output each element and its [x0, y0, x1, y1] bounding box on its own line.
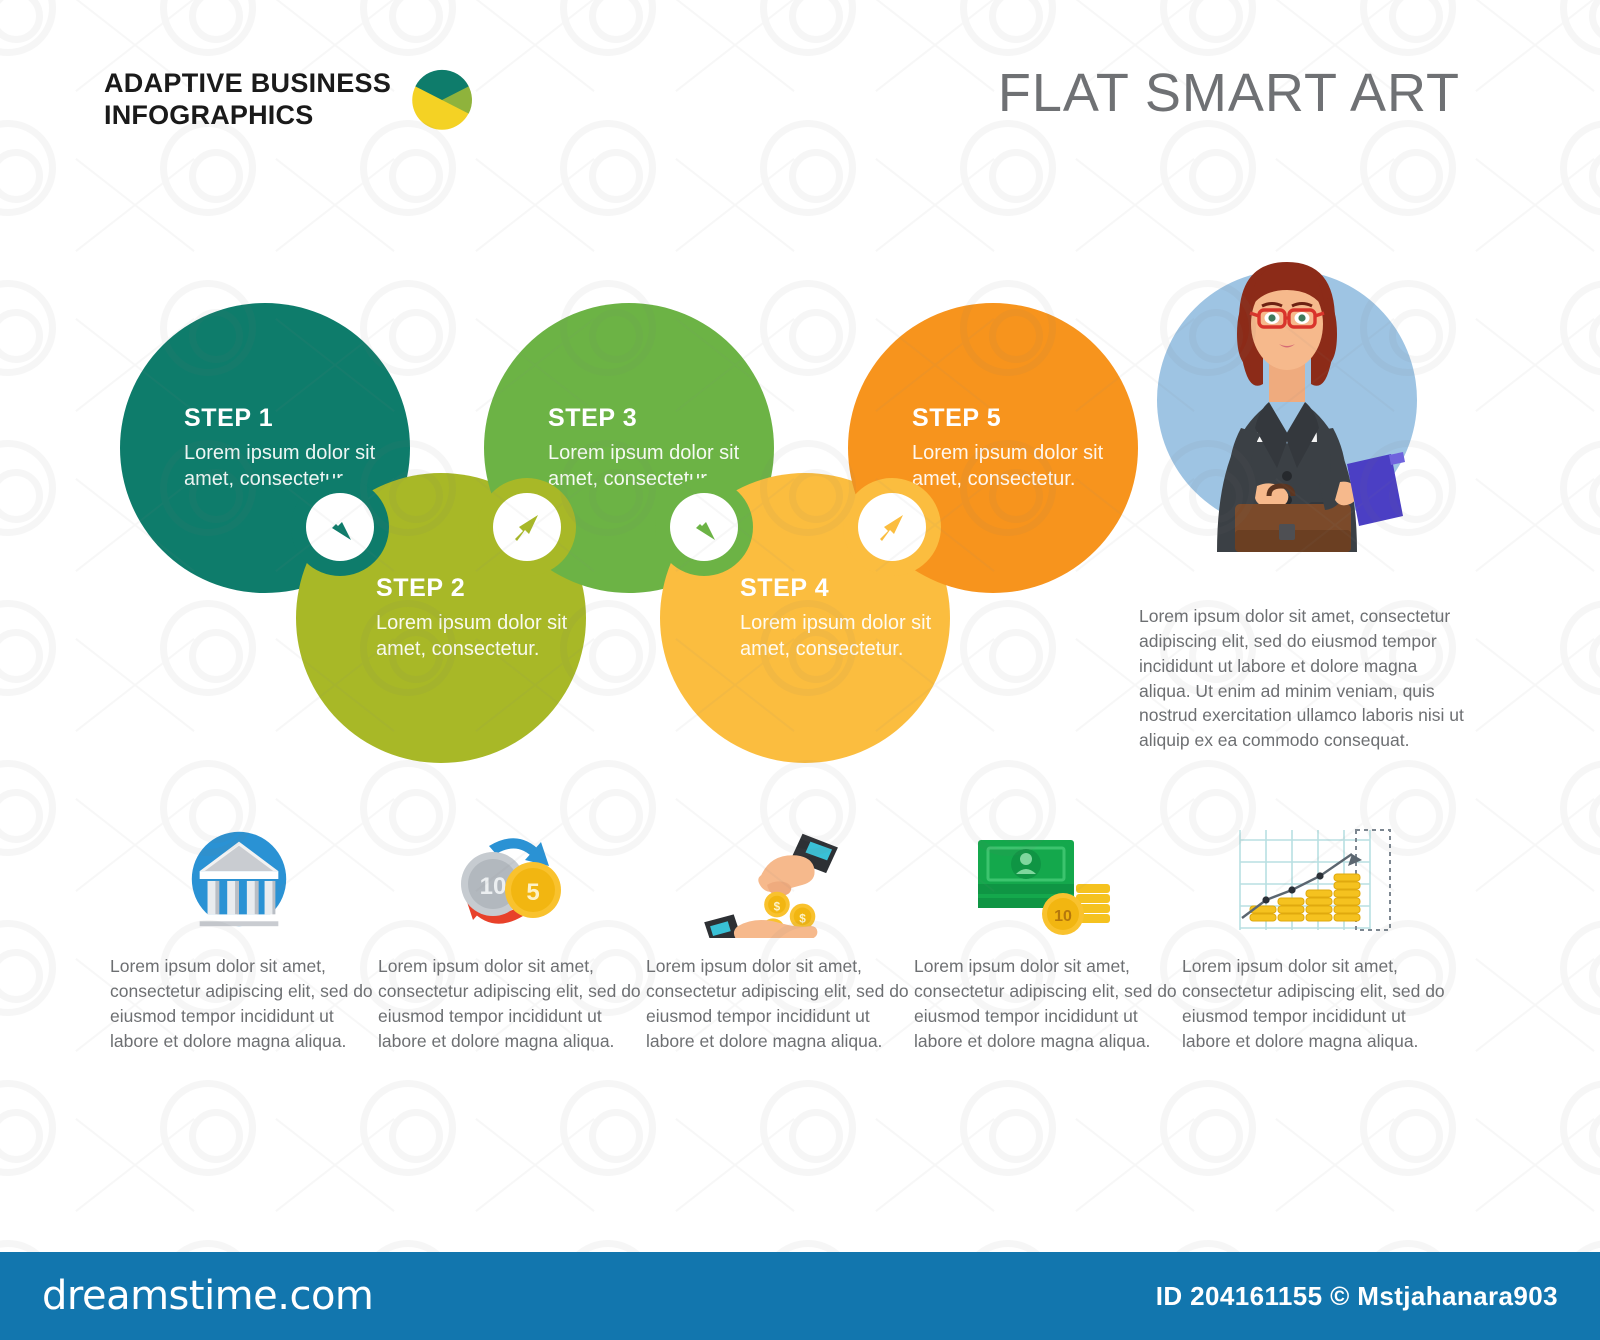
step-title-4: STEP 4 — [740, 574, 950, 603]
step-desc-3: Lorem ipsum dolor sit amet, consectetur. — [548, 441, 774, 492]
footer-bar: dreamstime.com ID 204161155 © Mstjahanar… — [0, 1252, 1600, 1340]
person-paragraph: Lorem ipsum dolor sit amet, consectetur … — [1139, 604, 1469, 753]
arrow-up-right-icon[interactable] — [493, 493, 561, 561]
step-title-3: STEP 3 — [548, 404, 774, 433]
icon-column-2: 10 5 Lorem ipsum dolor sit amet, consect… — [368, 820, 646, 1053]
step-title-1: STEP 1 — [184, 404, 410, 433]
coin-exchange-icon[interactable]: 10 5 — [368, 820, 646, 938]
dreamstime-logo[interactable]: dreamstime.com — [42, 1273, 373, 1319]
image-id-text: ID 204161155 © Mstjahanara903 — [1156, 1281, 1558, 1312]
step-title-2: STEP 2 — [376, 574, 586, 603]
icon-column-5: Lorem ipsum dolor sit amet, consectetur … — [1172, 820, 1450, 1053]
svg-text:10: 10 — [1054, 908, 1072, 925]
infographic-canvas: ADAPTIVE BUSINESS INFOGRAPHICS FLAT SMAR… — [0, 0, 1600, 1340]
icon-caption-5: Lorem ipsum dolor sit amet, consectetur … — [1172, 954, 1450, 1053]
businesswoman-avatar-icon — [1157, 252, 1417, 552]
arrow-down-right-icon[interactable] — [306, 493, 374, 561]
step-desc-1: Lorem ipsum dolor sit amet, consectetur. — [184, 441, 410, 492]
icon-columns: Lorem ipsum dolor sit amet, consectetur … — [0, 820, 1600, 1120]
icon-caption-2: Lorem ipsum dolor sit amet, consectetur … — [368, 954, 646, 1053]
icon-column-1: Lorem ipsum dolor sit amet, consectetur … — [100, 820, 378, 1053]
step-desc-4: Lorem ipsum dolor sit amet, consectetur. — [740, 611, 950, 662]
dreamstime-brand-text: dreamstime.com — [42, 1273, 373, 1319]
svg-text:5: 5 — [526, 879, 539, 906]
arrow-up-right-icon[interactable] — [858, 493, 926, 561]
step-desc-2: Lorem ipsum dolor sit amet, consectetur. — [376, 611, 586, 662]
icon-column-4: 10 Lorem ipsum dolor sit amet, consectet… — [904, 820, 1182, 1053]
bank-building-icon[interactable] — [100, 820, 378, 938]
svg-text:$: $ — [774, 899, 781, 913]
hands-coins-icon[interactable]: $ $ — [636, 820, 914, 938]
icon-caption-3: Lorem ipsum dolor sit amet, consectetur … — [636, 954, 914, 1053]
svg-text:$: $ — [799, 911, 806, 925]
arrow-down-right-icon[interactable] — [670, 493, 738, 561]
icon-caption-1: Lorem ipsum dolor sit amet, consectetur … — [100, 954, 378, 1053]
svg-text:10: 10 — [480, 873, 507, 900]
icon-caption-4: Lorem ipsum dolor sit amet, consectetur … — [904, 954, 1182, 1053]
step-title-5: STEP 5 — [912, 404, 1138, 433]
icon-column-3: $ $ Lorem ipsum dolor sit amet, consecte… — [636, 820, 914, 1053]
cash-coins-icon[interactable]: 10 — [904, 820, 1182, 938]
growth-chart-icon[interactable] — [1172, 820, 1450, 938]
step-desc-5: Lorem ipsum dolor sit amet, consectetur. — [912, 441, 1138, 492]
